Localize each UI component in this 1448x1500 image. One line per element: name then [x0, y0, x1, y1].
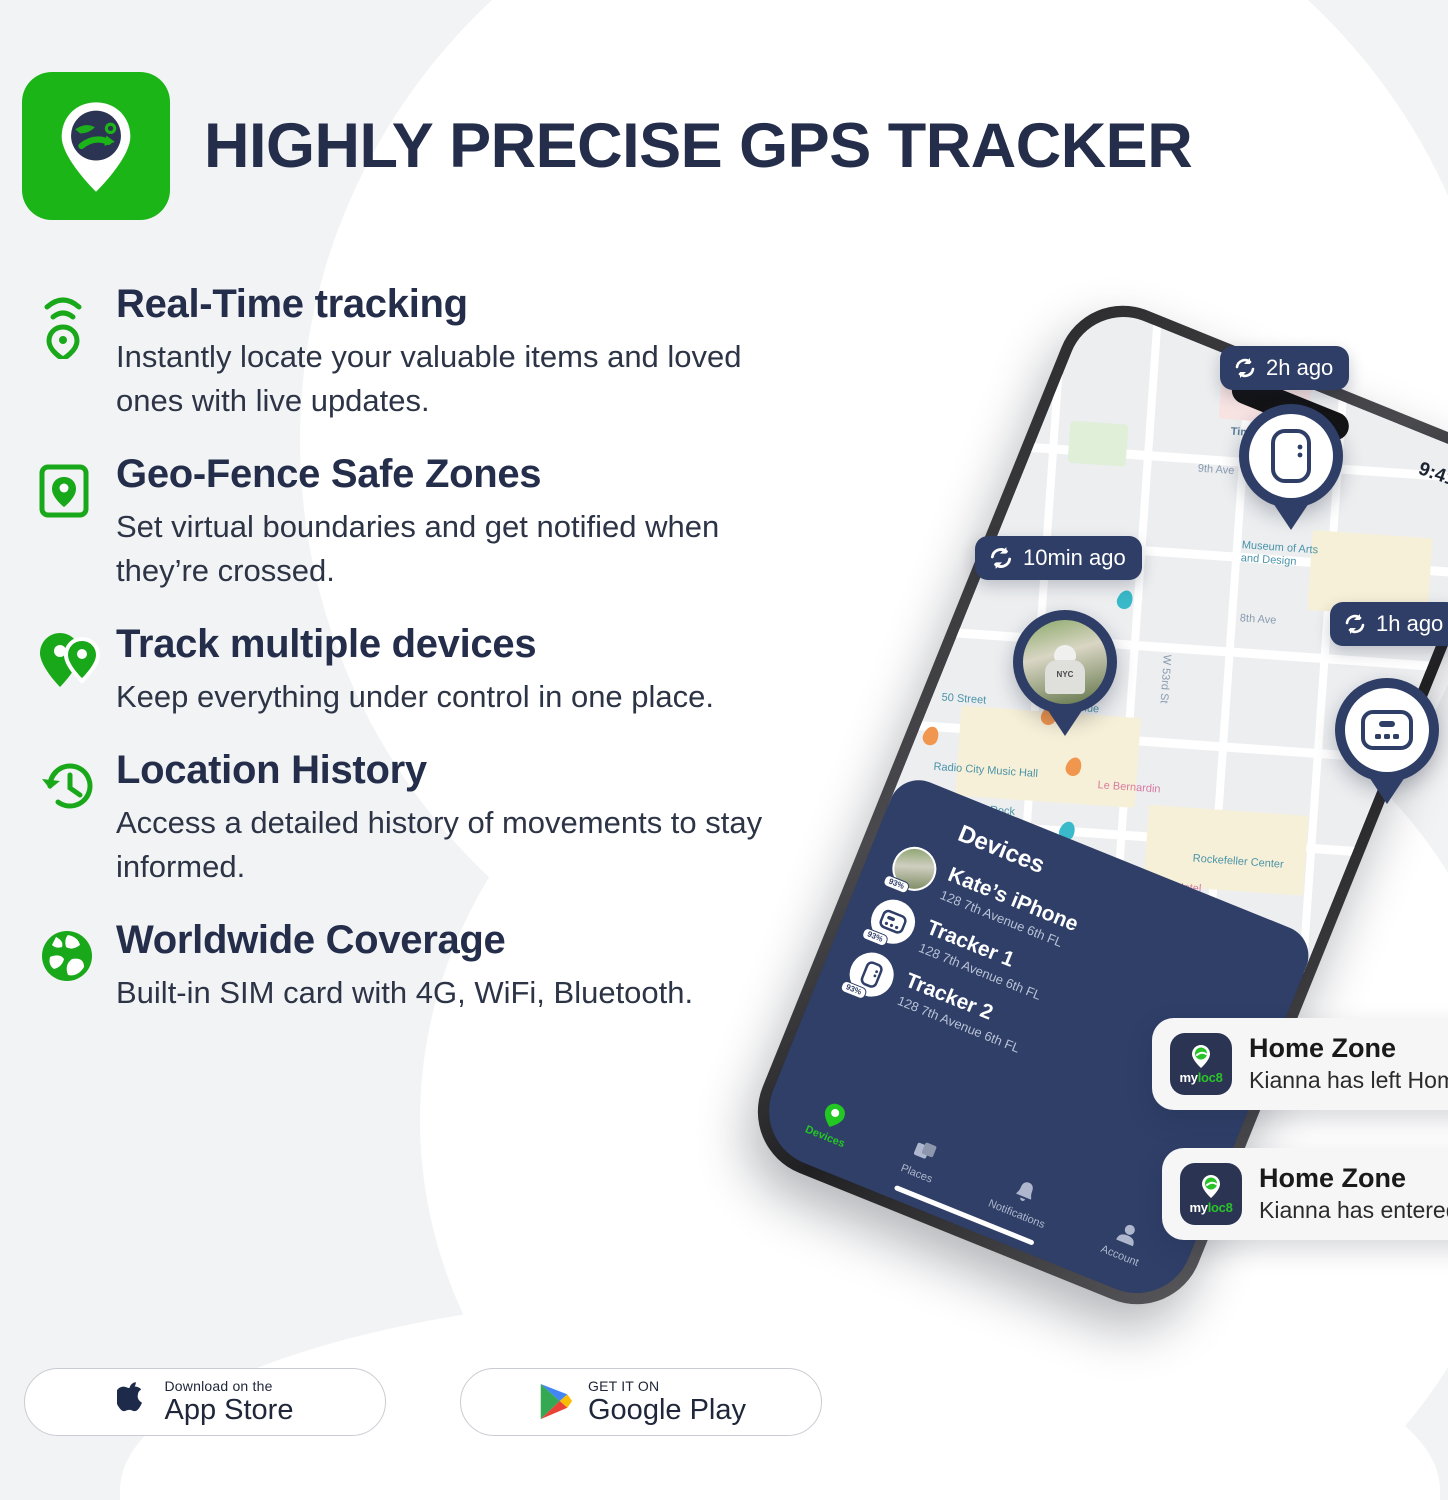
feature-item: Geo-Fence Safe Zones Set virtual boundar… — [38, 453, 838, 593]
apple-logo-icon — [117, 1382, 151, 1422]
tracker-card-icon — [1249, 414, 1333, 498]
sync-icon — [988, 545, 1014, 571]
chip-1h-ago: 1h ago — [1330, 602, 1448, 646]
app-wordmark-part2: loc8 — [1208, 1200, 1233, 1215]
map-label: 8th Ave — [1239, 612, 1276, 627]
notification-card[interactable]: myloc8 Home Zone Kianna has entered Home — [1162, 1148, 1448, 1240]
devices-pin-icon — [817, 1098, 851, 1132]
tab-account[interactable]: Account — [1099, 1214, 1152, 1269]
map-label: 50 Street — [941, 692, 986, 707]
app-wordmark-part1: my — [1179, 1070, 1197, 1085]
bell-icon — [1009, 1175, 1043, 1209]
notification-body: Kianna has left Home — [1249, 1067, 1448, 1094]
chip-2h-ago: 2h ago — [1220, 346, 1349, 390]
chip-label: 10min ago — [1023, 545, 1126, 571]
tag-device-icon: 93% — [843, 946, 900, 1003]
app-logo-tile — [22, 72, 170, 220]
feature-description: Built-in SIM card with 4G, WiFi, Bluetoo… — [116, 971, 816, 1015]
multi-device-pins-icon — [38, 623, 116, 689]
store-badges: Download on the App Store GET IT ON Goog… — [24, 1368, 822, 1436]
google-play-bottom-label: Google Play — [588, 1395, 746, 1425]
globe-icon — [38, 919, 116, 985]
app-store-button[interactable]: Download on the App Store — [24, 1368, 386, 1436]
promo-banner: HIGHLY PRECISE GPS TRACKER Real-Time tra… — [0, 0, 1448, 1500]
cyclist-photo: NYC — [1023, 620, 1107, 704]
sync-icon — [1233, 356, 1257, 380]
tracker-device-icon: 93% — [864, 894, 921, 951]
feature-description: Access a detailed history of movements t… — [116, 801, 816, 889]
notification-card[interactable]: myloc8 Home Zone Kianna has left Home — [1152, 1018, 1448, 1110]
pin-tracker-box[interactable] — [1335, 678, 1439, 782]
feature-title: Real-Time tracking — [116, 283, 838, 325]
app-store-top-label: Download on the — [165, 1379, 294, 1394]
pin-tracker-card[interactable] — [1239, 404, 1343, 508]
feature-item: Location History Access a detailed histo… — [38, 749, 838, 889]
feature-list: Real-Time tracking Instantly locate your… — [38, 283, 838, 1015]
chip-10min-ago: 10min ago — [975, 536, 1142, 580]
green-location-globe-logo-icon — [1198, 1173, 1224, 1199]
bottom-tab-bar: Devices Places — [762, 1078, 1193, 1286]
header: HIGHLY PRECISE GPS TRACKER — [22, 72, 1192, 220]
feature-item: Real-Time tracking Instantly locate your… — [38, 283, 838, 423]
history-clock-icon — [38, 749, 116, 815]
chip-label: 2h ago — [1266, 355, 1333, 381]
page-title: HIGHLY PRECISE GPS TRACKER — [204, 115, 1192, 178]
app-wordmark-part1: my — [1189, 1200, 1207, 1215]
feature-description: Instantly locate your valuable items and… — [116, 335, 816, 423]
green-location-globe-logo-icon — [44, 94, 148, 198]
google-play-top-label: GET IT ON — [588, 1379, 746, 1394]
tab-devices[interactable]: Devices — [803, 1095, 858, 1150]
kate-photo-avatar: 93% — [886, 841, 943, 898]
tracker-box-icon — [1345, 688, 1429, 772]
map-label: W 53rd St — [1158, 654, 1173, 704]
feature-title: Location History — [116, 749, 838, 791]
map-label: 9th Ave — [1197, 463, 1234, 478]
tab-notifications[interactable]: Notifications — [987, 1169, 1059, 1231]
green-location-globe-logo-icon — [1188, 1043, 1214, 1069]
notification-title: Home Zone — [1249, 1034, 1448, 1064]
feature-description: Set virtual boundaries and get notified … — [116, 505, 816, 593]
geofence-square-pin-icon — [38, 453, 116, 521]
realtime-signal-pin-icon — [38, 283, 116, 359]
app-store-bottom-label: App Store — [165, 1395, 294, 1425]
sync-icon — [1343, 612, 1367, 636]
feature-item: Worldwide Coverage Built-in SIM card wit… — [38, 919, 838, 1015]
chip-label: 1h ago — [1376, 611, 1443, 637]
feature-title: Worldwide Coverage — [116, 919, 838, 961]
app-wordmark-part2: loc8 — [1198, 1070, 1223, 1085]
google-play-button[interactable]: GET IT ON Google Play — [460, 1368, 822, 1436]
pin-cyclist-photo[interactable]: NYC — [1013, 610, 1117, 714]
status-bar-time: 9:41 — [1415, 458, 1448, 491]
notification-title: Home Zone — [1259, 1164, 1448, 1194]
myloc8-app-icon: myloc8 — [1170, 1033, 1232, 1095]
feature-description: Keep everything under control in one pla… — [116, 675, 816, 719]
tab-places[interactable]: Places — [899, 1133, 946, 1185]
feature-title: Geo-Fence Safe Zones — [116, 453, 838, 495]
places-cards-icon — [909, 1135, 943, 1169]
map-label: Museum of Arts and Design — [1240, 539, 1338, 571]
account-person-icon — [1112, 1217, 1146, 1251]
google-play-icon — [536, 1381, 574, 1423]
feature-title: Track multiple devices — [116, 623, 838, 665]
feature-item: Track multiple devices Keep everything u… — [38, 623, 838, 719]
myloc8-app-icon: myloc8 — [1180, 1163, 1242, 1225]
notification-body: Kianna has entered Home — [1259, 1197, 1448, 1224]
